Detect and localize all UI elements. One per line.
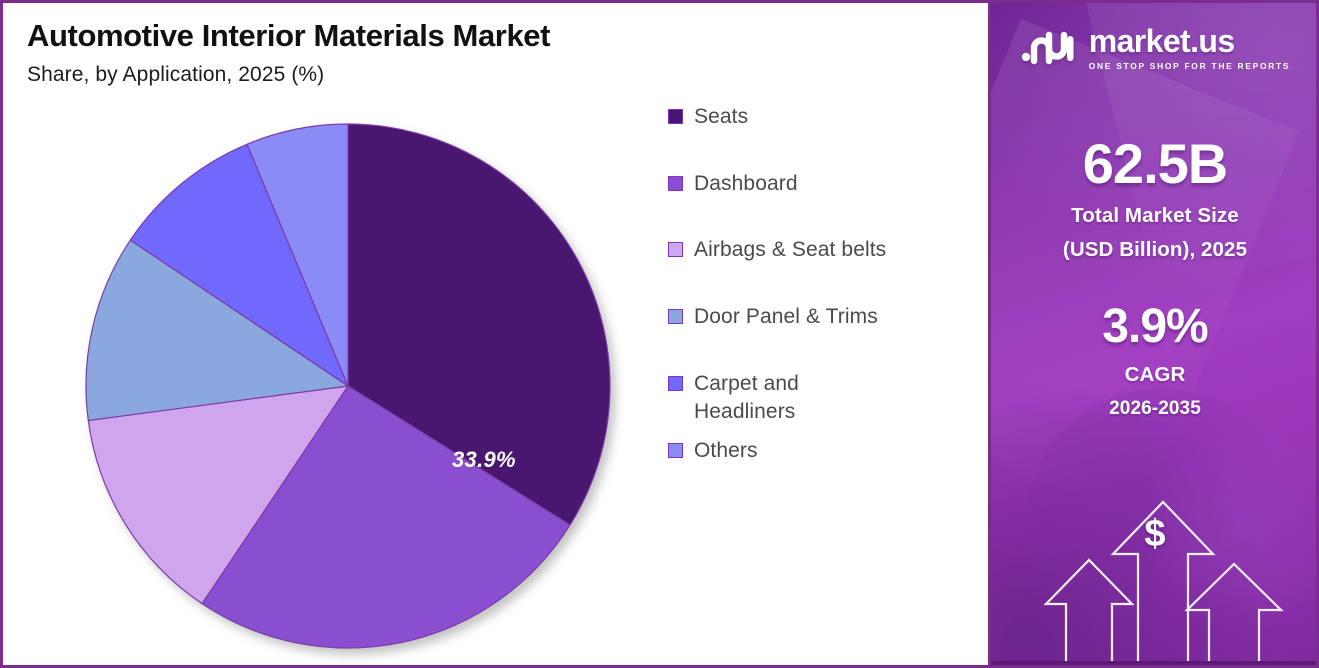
- brand-name: market.us: [1089, 25, 1291, 57]
- stats-panel: market.us ONE STOP SHOP FOR THE REPORTS …: [988, 0, 1319, 668]
- legend-item-label: Airbags & Seat belts: [694, 236, 886, 264]
- legend-item-label: Others: [694, 437, 758, 465]
- pie-slices: [86, 124, 610, 648]
- legend-swatch-icon: [668, 376, 683, 391]
- stat-cagr: 3.9% CAGR 2026-2035: [991, 303, 1319, 421]
- legend-item-seats[interactable]: Seats: [668, 103, 968, 131]
- legend-item-label: Door Panel & Trims: [694, 303, 878, 331]
- page-title: Automotive Interior Materials Market: [27, 18, 727, 54]
- stat-caption-line2: (USD Billion), 2025: [991, 237, 1319, 263]
- page-subtitle: Share, by Application, 2025 (%): [27, 63, 727, 87]
- stat-value: 62.5B: [991, 136, 1319, 192]
- legend-swatch-icon: [668, 109, 683, 124]
- stat-caption-line2: 2026-2035: [991, 397, 1319, 421]
- legend-swatch-icon: [668, 176, 683, 191]
- legend-swatch-icon: [668, 309, 683, 324]
- legend-item-label: Seats: [694, 103, 748, 131]
- chart-header: Automotive Interior Materials Market Sha…: [27, 18, 727, 87]
- legend-item-others[interactable]: Others: [668, 437, 968, 465]
- panel-bottom-bar: [991, 661, 1319, 668]
- dollar-sign-icon: $: [991, 513, 1319, 556]
- legend-item-airbags-seat-belts[interactable]: Airbags & Seat belts: [668, 236, 968, 264]
- legend-item-door-panel-trims[interactable]: Door Panel & Trims: [668, 303, 968, 331]
- brand-text: market.us ONE STOP SHOP FOR THE REPORTS: [1089, 25, 1291, 71]
- market-us-logo-icon: [1020, 27, 1080, 67]
- pie-chart: 33.9%: [84, 122, 612, 650]
- decorative-shape: [988, 19, 1299, 521]
- legend: Seats Dashboard Airbags & Seat belts Doo…: [668, 103, 968, 504]
- pie-svg: [84, 122, 612, 650]
- legend-swatch-icon: [668, 443, 683, 458]
- stat-caption-line1: Total Market Size: [991, 203, 1319, 229]
- stat-value: 3.9%: [991, 303, 1319, 351]
- pie-slice-label-seats: 33.9%: [452, 447, 516, 473]
- legend-swatch-icon: [668, 242, 683, 257]
- stat-caption-line1: CAGR: [991, 362, 1319, 388]
- chart-panel: Automotive Interior Materials Market Sha…: [0, 0, 988, 668]
- brand-logo[interactable]: market.us ONE STOP SHOP FOR THE REPORTS: [991, 0, 1319, 70]
- stat-total-market-size: 62.5B Total Market Size (USD Billion), 2…: [991, 136, 1319, 263]
- legend-item-label: Dashboard: [694, 170, 798, 198]
- infographic-root: Automotive Interior Materials Market Sha…: [0, 0, 1319, 668]
- legend-item-carpet-and-headliners[interactable]: Carpet and Headliners: [668, 370, 968, 425]
- brand-tagline: ONE STOP SHOP FOR THE REPORTS: [1089, 61, 1291, 71]
- legend-item-label: Carpet and Headliners: [694, 370, 859, 425]
- legend-item-dashboard[interactable]: Dashboard: [668, 170, 968, 198]
